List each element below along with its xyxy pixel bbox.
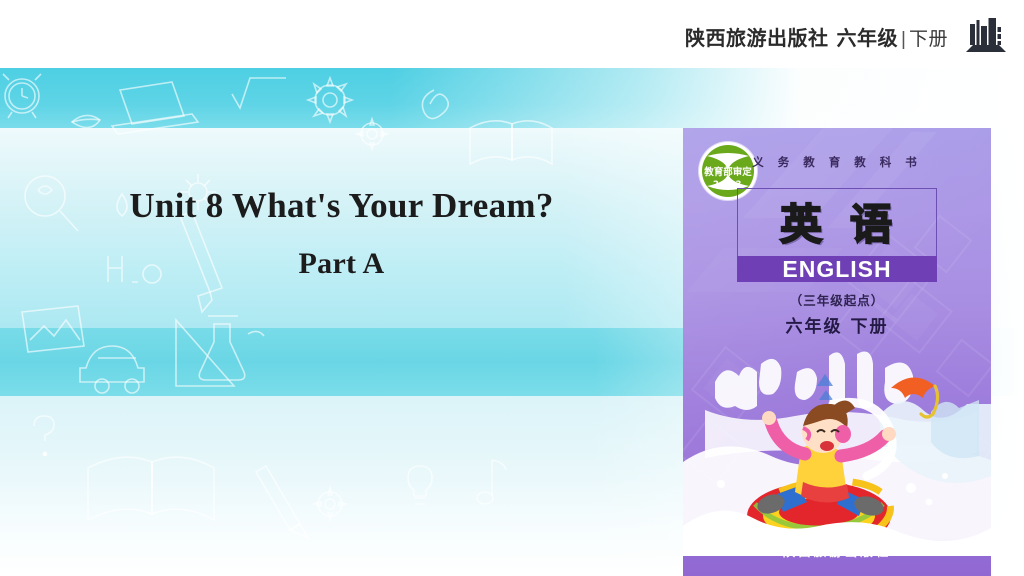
cover-start-note: （三年级起点） [683, 290, 991, 309]
grade-label: 六年级 [837, 22, 899, 51]
textbook-cover-image: 教育部审定 2013 义 务 教 育 教 科 书 英 语 ENGLISH （三年… [683, 128, 991, 576]
cover-subject-char-1: 英 [780, 191, 824, 252]
cover-grade-line: 六年级 下册 [683, 312, 991, 337]
cover-subject-english: ENGLISH [737, 254, 937, 284]
cover-subject-char-2: 语 [850, 191, 894, 252]
slide-title: Unit 8 What's Your Dream? [0, 185, 683, 227]
separator: | [901, 29, 906, 51]
slide-subtitle: Part A [0, 247, 683, 281]
slide-root: 陕西旅游出版社 六年级 | 下册 Unit 8 What's [0, 0, 1024, 576]
slide-header: 陕西旅游出版社 六年级 | 下册 [0, 0, 1024, 68]
publisher-name: 陕西旅游出版社 [685, 22, 829, 51]
title-block: Unit 8 What's Your Dream? Part A [0, 185, 683, 281]
background-band-top [0, 68, 1024, 128]
cover-artwork-girl-sledding [683, 376, 991, 556]
header-content: 陕西旅游出版社 六年级 | 下册 [685, 16, 1008, 56]
cover-subject-chinese: 英 语 [737, 190, 937, 252]
cover-publisher: 陕西旅游出版社 [683, 541, 991, 560]
publisher-line: 陕西旅游出版社 六年级 | 下册 [685, 22, 948, 51]
books-stand-icon [964, 16, 1008, 56]
volume-label: 下册 [909, 24, 948, 51]
cover-series-line: 义 务 教 育 教 科 书 [683, 154, 991, 170]
